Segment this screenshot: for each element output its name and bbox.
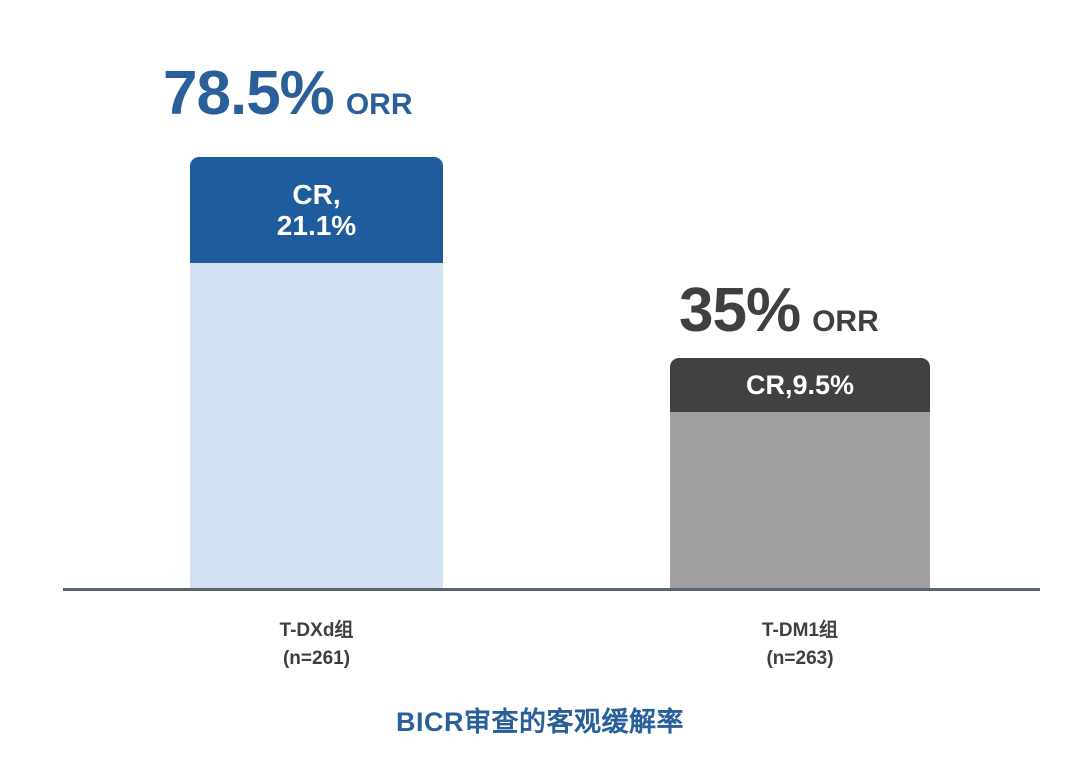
axis-baseline (63, 588, 1040, 591)
orr-headline-right: 35%ORR (679, 280, 879, 342)
bar-segment-partial-response-t-dm1 (670, 412, 930, 590)
orr-value-right: 35% (679, 276, 800, 345)
bar-cr-label-line1-t-dxd: CR, (292, 179, 340, 210)
bar-t-dxd: CR, 21.1% (190, 157, 443, 590)
category-label-t-dm1: T-DM1组 (n=263) (670, 617, 930, 672)
category-n-t-dxd: (n=261) (190, 645, 443, 673)
bar-t-dm1: CR,9.5% (670, 358, 930, 590)
category-name-t-dxd: T-DXd组 (190, 617, 443, 645)
orr-bar-chart: 78.5%ORR 35%ORR CR, 21.1% CR,9.5% T-DXd组… (0, 0, 1080, 771)
bar-cr-label-line2-t-dxd: 21.1% (277, 210, 356, 241)
bar-cr-label-t-dm1: CR,9.5% (746, 370, 854, 400)
bar-cr-label-t-dxd: CR, 21.1% (277, 179, 356, 242)
bar-segment-cr-t-dxd: CR, 21.1% (190, 157, 443, 263)
category-n-t-dm1: (n=263) (670, 645, 930, 673)
bar-segment-cr-t-dm1: CR,9.5% (670, 358, 930, 412)
orr-headline-left: 78.5%ORR (163, 63, 412, 125)
bar-segment-partial-response-t-dxd (190, 263, 443, 590)
orr-value-left: 78.5% (163, 59, 334, 128)
chart-title: BICR审查的客观缓解率 (0, 700, 1080, 739)
category-label-t-dxd: T-DXd组 (n=261) (190, 617, 443, 672)
category-name-t-dm1: T-DM1组 (670, 617, 930, 645)
orr-suffix-left: ORR (346, 88, 413, 121)
orr-suffix-right: ORR (812, 305, 879, 338)
